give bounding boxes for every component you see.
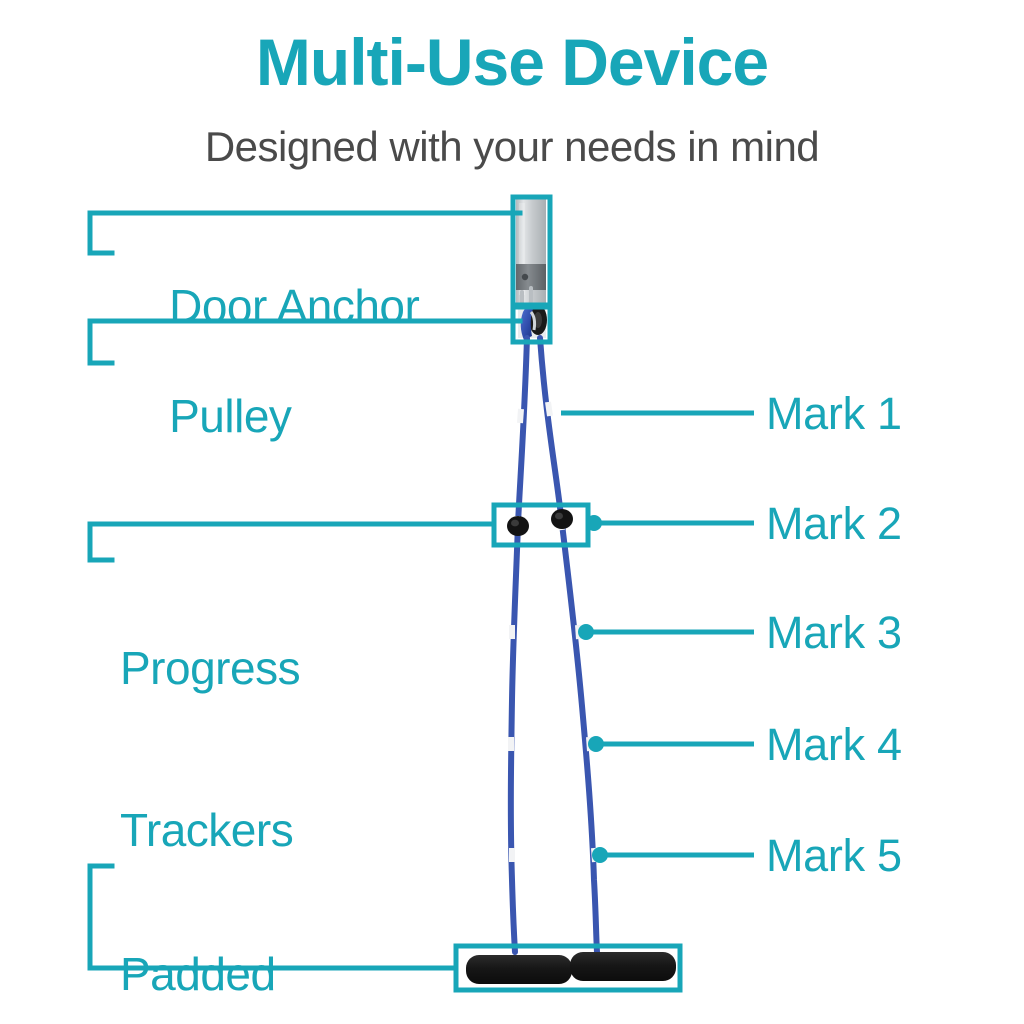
resistance-cords [511, 338, 597, 952]
callout-label-progress-trackers-line1: Progress [120, 641, 300, 695]
mark-label-4[interactable]: Mark 4 [766, 719, 902, 771]
leader-dot-mark-5 [592, 847, 608, 863]
callout-label-padded-handles[interactable]: Padded Handles [120, 838, 285, 1024]
callout-label-pulley[interactable]: Pulley [120, 335, 291, 498]
callout-label-door-anchor-line1: Door Anchor [169, 280, 419, 332]
callout-label-pulley-line1: Pulley [169, 390, 291, 442]
mark-label-2[interactable]: Mark 2 [766, 498, 902, 550]
infographic-canvas: Multi-Use Device Designed with your need… [0, 0, 1024, 1024]
leader-dot-mark-3 [578, 624, 594, 640]
mark-label-5[interactable]: Mark 5 [766, 830, 902, 882]
padded-handles-part [466, 952, 676, 984]
callout-label-padded-handles-line1: Padded [120, 947, 285, 1001]
leader-dot-mark-4 [588, 736, 604, 752]
mark-label-3[interactable]: Mark 3 [766, 607, 902, 659]
mark-label-1[interactable]: Mark 1 [766, 388, 902, 440]
leader-dot-mark-2 [586, 515, 602, 531]
